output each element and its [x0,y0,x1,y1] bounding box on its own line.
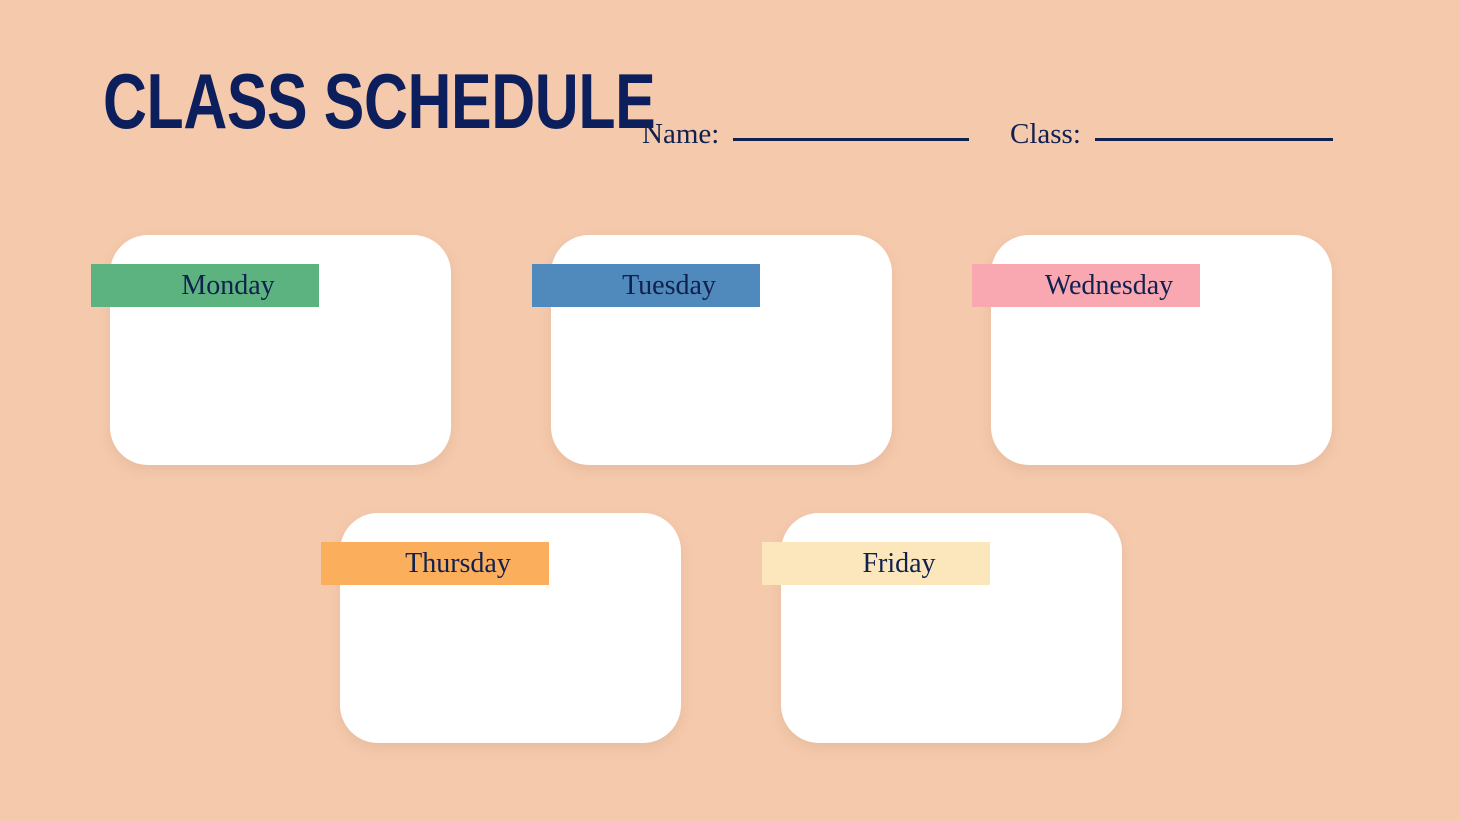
day-card-monday[interactable]: Monday [110,235,451,465]
day-banner-thursday: Thursday [321,542,549,585]
day-label-tuesday: Tuesday [576,272,716,300]
day-label-thursday: Thursday [359,550,511,578]
day-label-friday: Friday [816,550,935,578]
day-label-wednesday: Wednesday [999,272,1173,300]
day-banner-monday: Monday [91,264,319,307]
day-card-grid: Monday Tuesday Wednesday Thursday Friday [0,0,1460,821]
day-card-friday[interactable]: Friday [781,513,1122,743]
class-schedule-page: CLASS SCHEDULE Name: Class: Monday Tuesd… [0,0,1460,821]
day-notes-friday[interactable] [811,599,1096,721]
day-banner-tuesday: Tuesday [532,264,760,307]
day-notes-tuesday[interactable] [581,321,866,443]
day-banner-wednesday: Wednesday [972,264,1200,307]
day-notes-thursday[interactable] [370,599,655,721]
day-card-wednesday[interactable]: Wednesday [991,235,1332,465]
day-notes-wednesday[interactable] [1021,321,1306,443]
day-label-monday: Monday [135,272,274,300]
day-banner-friday: Friday [762,542,990,585]
day-card-thursday[interactable]: Thursday [340,513,681,743]
day-notes-monday[interactable] [140,321,425,443]
day-card-tuesday[interactable]: Tuesday [551,235,892,465]
